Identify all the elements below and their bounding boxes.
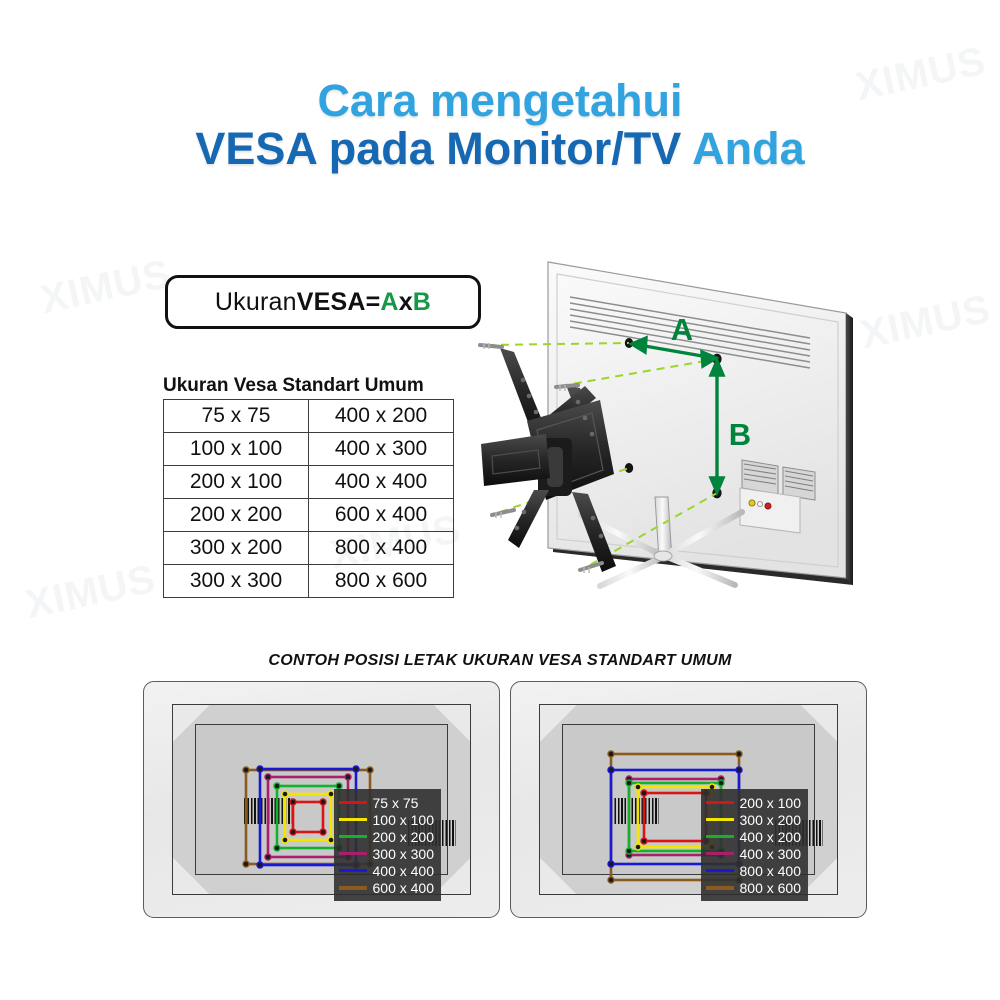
vesa-hole-dot [736,767,742,773]
vesa-hole-dot [635,844,641,850]
legend-label: 600 x 400 [373,881,435,895]
formula-vesa: VESA [297,288,366,317]
mount-screws [480,343,602,573]
vesa-hole-dot [257,862,263,868]
legend-row: 75 x 75 [339,794,435,811]
legend-label: 400 x 300 [740,847,802,861]
table-cell-right: 400 x 300 [309,433,454,466]
watermark-left: XIMUS [37,252,175,323]
arrow-a-line [639,345,708,357]
legend-label: 75 x 75 [373,796,419,810]
example-panel-right: 200 x 100300 x 200400 x 200400 x 300800 … [510,681,867,918]
table-row: 300 x 200800 x 400 [164,532,454,565]
vesa-hole-dot [243,861,249,867]
table-row: 75 x 75400 x 200 [164,400,454,433]
legend-color-swatch [339,801,367,804]
vesa-hole-dot [353,766,359,772]
legend-label: 100 x 100 [373,813,435,827]
table-cell-left: 100 x 100 [164,433,309,466]
table-row: 200 x 100400 x 400 [164,466,454,499]
vesa-hole-dot [265,854,271,860]
table-row: 200 x 200600 x 400 [164,499,454,532]
formula-prefix: Ukuran [215,288,297,317]
watermark-mid-right: XIMUS [857,287,995,358]
table-row: 100 x 100400 x 300 [164,433,454,466]
table-cell-left: 300 x 300 [164,565,309,598]
legend-color-swatch [339,852,367,855]
vesa-hole-dot [635,784,641,790]
legend-row: 300 x 300 [339,845,435,862]
legend-label: 200 x 200 [373,830,435,844]
vent-blocks-lower [742,460,815,500]
legend-color-swatch [706,835,734,838]
dimension-label-a: A [671,312,693,347]
legend-label: 200 x 100 [740,796,802,810]
title-line-2-main: VESA pada Monitor/TV [195,123,692,174]
legend-color-swatch [706,852,734,855]
vesa-hole-dot [641,790,647,796]
legend-color-swatch [706,869,734,872]
vesa-hole-dot [282,791,288,797]
table-cell-left: 300 x 200 [164,532,309,565]
vesa-hole-dot [290,829,296,835]
tv-inner-back: 75 x 75100 x 100200 x 200300 x 300400 x … [195,724,448,875]
legend-row: 200 x 100 [706,794,802,811]
vesa-hole-dot [608,767,614,773]
legend-label: 800 x 600 [740,881,802,895]
vesa-formula-box: Ukuran VESA = A x B [165,275,481,329]
vesa-pattern-rect [644,793,706,841]
vesa-hole-dot [257,766,263,772]
legend-color-swatch [339,886,367,890]
arrow-a-head-right [702,352,716,366]
formula-equals: = [366,288,381,317]
tv-bezel: 200 x 100300 x 200400 x 200400 x 300800 … [539,704,838,895]
tv-rear-body [548,262,853,585]
legend-row: 100 x 100 [339,811,435,828]
vesa-hole-dot [367,767,373,773]
vesa-legend-left: 75 x 75100 x 100200 x 200300 x 300400 x … [334,789,442,901]
legend-row: 400 x 300 [706,845,802,862]
legend-row: 400 x 400 [339,862,435,879]
tv-bezel: 75 x 75100 x 100200 x 200300 x 300400 x … [172,704,471,895]
page-title: Cara mengetahui VESA pada Monitor/TV And… [0,78,1000,175]
vesa-hole-dot [641,838,647,844]
infographic-canvas: XIMUS XIMUS XIMUS XIMUS XIMUS XIMUS XIMU… [0,0,1000,1000]
table-cell-left: 200 x 200 [164,499,309,532]
vesa-hole-dot [626,780,632,786]
table-cell-right: 800 x 400 [309,532,454,565]
vesa-hole-dot [243,767,249,773]
alignment-dashed-lines [487,343,717,565]
vesa-pattern-rect [293,802,323,832]
vesa-legend-right: 200 x 100300 x 200400 x 200400 x 300800 … [701,789,809,901]
vesa-hole-markers [625,338,722,498]
vesa-size-table: 75 x 75400 x 200100 x 100400 x 300200 x … [163,399,454,598]
legend-color-swatch [706,886,734,890]
vesa-hole-dot [265,774,271,780]
watermark-bottom-left: XIMUS [22,557,160,628]
formula-b: B [413,288,431,317]
vesa-hole-dot [345,774,351,780]
legend-row: 800 x 400 [706,862,802,879]
arrow-a-head-left [632,338,646,352]
example-panel-left: 75 x 75100 x 100200 x 200300 x 300400 x … [143,681,500,918]
title-line-2-accent: Anda [692,123,805,174]
dimension-arrows [632,338,723,492]
legend-row: 200 x 200 [339,828,435,845]
legend-label: 400 x 400 [373,864,435,878]
bottom-caption: CONTOH POSISI LETAK UKURAN VESA STANDART… [0,652,1000,670]
legend-label: 800 x 400 [740,864,802,878]
tv-stand [581,497,742,592]
vent-slats-top [570,297,810,368]
title-line-1: Cara mengetahui [0,78,1000,124]
table-row: 300 x 300800 x 600 [164,565,454,598]
title-line-2: VESA pada Monitor/TV Anda [0,124,1000,174]
vesa-hole-dot [736,751,742,757]
legend-color-swatch [339,869,367,872]
legend-color-swatch [706,801,734,804]
vesa-hole-dot [320,829,326,835]
arrow-b-head-bottom [711,478,723,492]
vesa-hole-dot [718,780,724,786]
legend-row: 300 x 200 [706,811,802,828]
table-cell-right: 600 x 400 [309,499,454,532]
legend-color-swatch [706,818,734,821]
legend-label: 300 x 200 [740,813,802,827]
legend-label: 300 x 300 [373,847,435,861]
dimension-label-b: B [729,417,751,452]
vesa-hole-dot [320,799,326,805]
legend-row: 600 x 400 [339,879,435,896]
vesa-hole-dot [608,751,614,757]
legend-color-swatch [339,818,367,821]
legend-row: 400 x 200 [706,828,802,845]
table-heading: Ukuran Vesa Standart Umum [163,375,424,397]
vesa-hole-dot [626,848,632,854]
arrow-b-head-top [711,361,723,375]
table-cell-right: 400 x 400 [309,466,454,499]
tv-inner-back: 200 x 100300 x 200400 x 200400 x 300800 … [562,724,815,875]
wall-mount-bracket [480,343,616,573]
formula-times: x [399,288,413,317]
table-cell-left: 200 x 100 [164,466,309,499]
vesa-hole-dot [274,845,280,851]
vesa-hole-dot [608,861,614,867]
table-cell-left: 75 x 75 [164,400,309,433]
vesa-hole-dot [282,837,288,843]
io-panel [740,488,800,533]
legend-label: 400 x 200 [740,830,802,844]
vesa-hole-dot [608,877,614,883]
legend-color-swatch [339,835,367,838]
vesa-hole-dot [290,799,296,805]
legend-row: 800 x 600 [706,879,802,896]
vesa-hole-dot [274,783,280,789]
formula-a: A [380,288,398,317]
table-cell-right: 800 x 600 [309,565,454,598]
table-cell-right: 400 x 200 [309,400,454,433]
